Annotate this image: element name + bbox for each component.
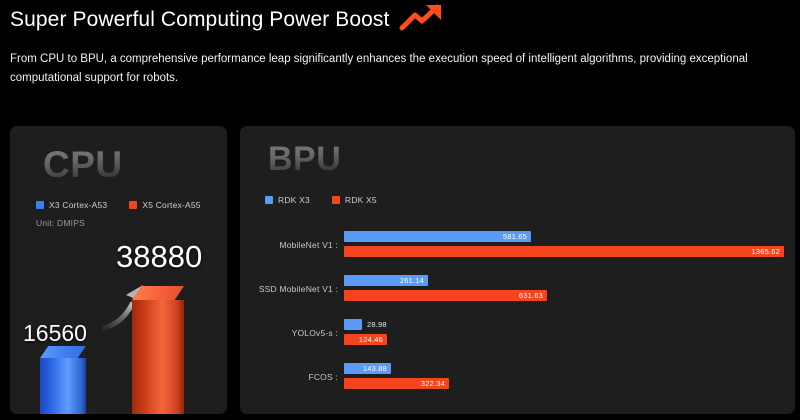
legend-swatch-icon xyxy=(36,201,44,209)
bpu-panel-title: BPU xyxy=(268,140,341,179)
cpu-bar-x3 xyxy=(40,346,86,414)
legend-label: RDK X5 xyxy=(345,195,377,205)
bpu-bar-rdk-x3: 143.88 xyxy=(344,363,391,374)
legend-item-x3-cortex-a53: X3 Cortex-A53 xyxy=(36,200,107,210)
cpu-legend: X3 Cortex-A53 X5 Cortex-A55 xyxy=(36,200,201,210)
bpu-row-bars: 28.98 124.46 xyxy=(344,314,784,352)
bpu-bar-value: 322.34 xyxy=(421,379,449,388)
bpu-bar-value: 631.63 xyxy=(519,291,547,300)
page-subtitle: From CPU to BPU, a comprehensive perform… xyxy=(10,50,770,88)
bpu-bar-chart: MobileNet V1 : 581.65 1365.62 SSD Mobile… xyxy=(240,226,795,406)
bpu-row-ssd-mobilenet-v1: SSD MobileNet V1 : 261.14 631.63 xyxy=(240,270,795,308)
legend-item-rdk-x3: RDK X3 xyxy=(265,195,310,205)
legend-swatch-icon xyxy=(332,196,340,204)
bpu-bar-value: 261.14 xyxy=(400,276,428,285)
bpu-row-bars: 261.14 631.63 xyxy=(344,270,784,308)
legend-swatch-icon xyxy=(129,201,137,209)
cpu-bar-x3-top xyxy=(40,346,86,358)
legend-item-x5-cortex-a55: X5 Cortex-A55 xyxy=(129,200,200,210)
bpu-bar-rdk-x3: 261.14 xyxy=(344,275,428,286)
bpu-row-mobilenet-v1: MobileNet V1 : 581.65 1365.62 xyxy=(240,226,795,264)
bpu-row-label: SSD MobileNet V1 : xyxy=(240,270,338,308)
bpu-bar-value: 1365.62 xyxy=(751,247,784,256)
cpu-bar-x5-top xyxy=(132,286,184,300)
cpu-value-x3: 16560 xyxy=(23,320,87,347)
bpu-bar-rdk-x5: 322.34 xyxy=(344,378,449,389)
page-root: Super Powerful Computing Power Boost Fro… xyxy=(0,0,800,420)
legend-swatch-icon xyxy=(265,196,273,204)
page-title: Super Powerful Computing Power Boost xyxy=(10,8,389,32)
bpu-bar-value: 143.88 xyxy=(363,364,391,373)
bpu-row-label: MobileNet V1 : xyxy=(240,226,338,264)
bpu-row-label: YOLOv5-s : xyxy=(240,314,338,352)
bpu-row-bars: 143.88 322.34 xyxy=(344,358,784,396)
cpu-bar-x3-front xyxy=(40,358,86,414)
trending-up-arrow-icon xyxy=(399,4,445,32)
cpu-bar-x5-front xyxy=(132,300,184,414)
bpu-bar-rdk-x5: 631.63 xyxy=(344,290,547,301)
cpu-bar-chart: 16560 38880 xyxy=(10,234,227,414)
cpu-value-x5: 38880 xyxy=(116,239,202,275)
legend-item-rdk-x5: RDK X5 xyxy=(332,195,377,205)
cpu-unit-label: Unit: DMIPS xyxy=(36,218,85,228)
bpu-row-label: FCOS : xyxy=(240,358,338,396)
bpu-bar-value: 581.65 xyxy=(503,232,531,241)
bpu-bar-rdk-x3: 28.98 xyxy=(344,319,362,330)
bpu-legend: RDK X3 RDK X5 xyxy=(265,195,377,205)
title-row: Super Powerful Computing Power Boost xyxy=(10,2,790,38)
bpu-row-bars: 581.65 1365.62 xyxy=(344,226,784,264)
bpu-bar-value: 124.46 xyxy=(359,335,387,344)
bpu-row-yolov5-s: YOLOv5-s : 28.98 124.46 xyxy=(240,314,795,352)
cpu-panel: CPU X3 Cortex-A53 X5 Cortex-A55 Unit: DM… xyxy=(10,126,227,414)
legend-label: X5 Cortex-A55 xyxy=(142,200,200,210)
bpu-bar-rdk-x5: 1365.62 xyxy=(344,246,784,257)
legend-label: RDK X3 xyxy=(278,195,310,205)
panels-container: CPU X3 Cortex-A53 X5 Cortex-A55 Unit: DM… xyxy=(10,126,795,414)
cpu-panel-title: CPU xyxy=(43,144,123,186)
legend-label: X3 Cortex-A53 xyxy=(49,200,107,210)
header: Super Powerful Computing Power Boost Fro… xyxy=(10,2,790,88)
cpu-bar-x5 xyxy=(132,286,184,414)
bpu-panel: BPU RDK X3 RDK X5 MobileNet V1 : 581.65 xyxy=(240,126,795,414)
bpu-bar-rdk-x5: 124.46 xyxy=(344,334,387,345)
bpu-row-fcos: FCOS : 143.88 322.34 xyxy=(240,358,795,396)
bpu-bar-rdk-x3: 581.65 xyxy=(344,231,531,242)
bpu-bar-value: 28.98 xyxy=(362,320,387,329)
